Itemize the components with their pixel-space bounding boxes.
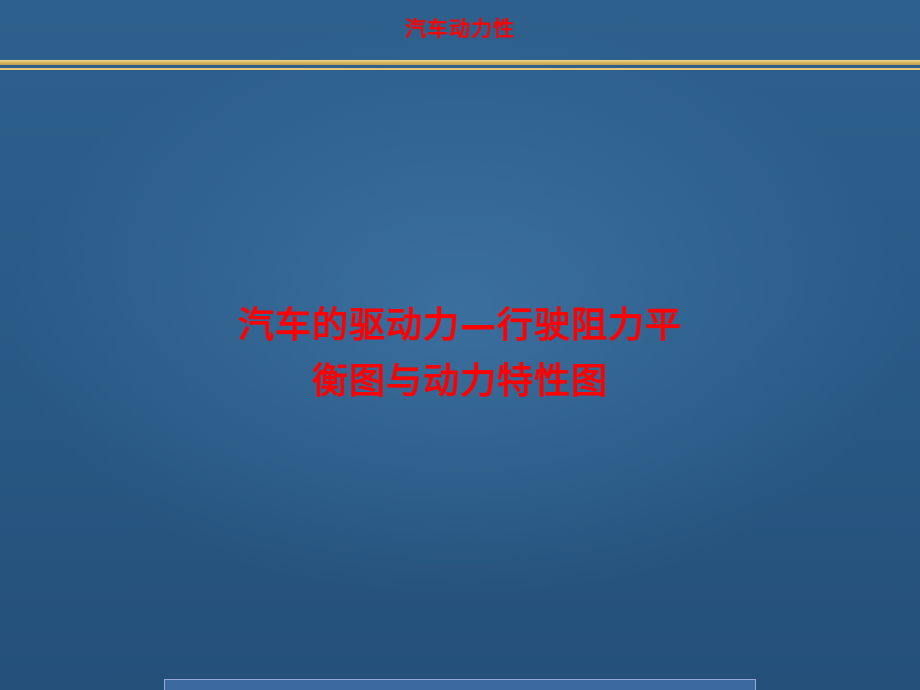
callout-content: ➢ 本节将通过作图法确定汽车动力性指标。: [177, 685, 564, 690]
header-divider: [0, 60, 920, 70]
callout-box: ➢ 本节将通过作图法确定汽车动力性指标。: [164, 679, 756, 690]
slide-header: 汽车动力性: [0, 0, 920, 70]
page-title-line-2: 衡图与动力特性图: [0, 354, 920, 410]
callout-text: 本节将通过作图法确定汽车动力性指标。: [195, 685, 564, 690]
page-title-line-1: 汽车的驱动力—行驶阻力平: [0, 298, 920, 354]
header-title: 汽车动力性: [0, 13, 920, 43]
page-title: 汽车的驱动力—行驶阻力平 衡图与动力特性图: [0, 298, 920, 410]
divider-thin-line: [0, 68, 920, 70]
slide-canvas: 汽车动力性 汽车的驱动力—行驶阻力平 衡图与动力特性图 ➢ 本节将通过作图法确定…: [0, 0, 920, 690]
